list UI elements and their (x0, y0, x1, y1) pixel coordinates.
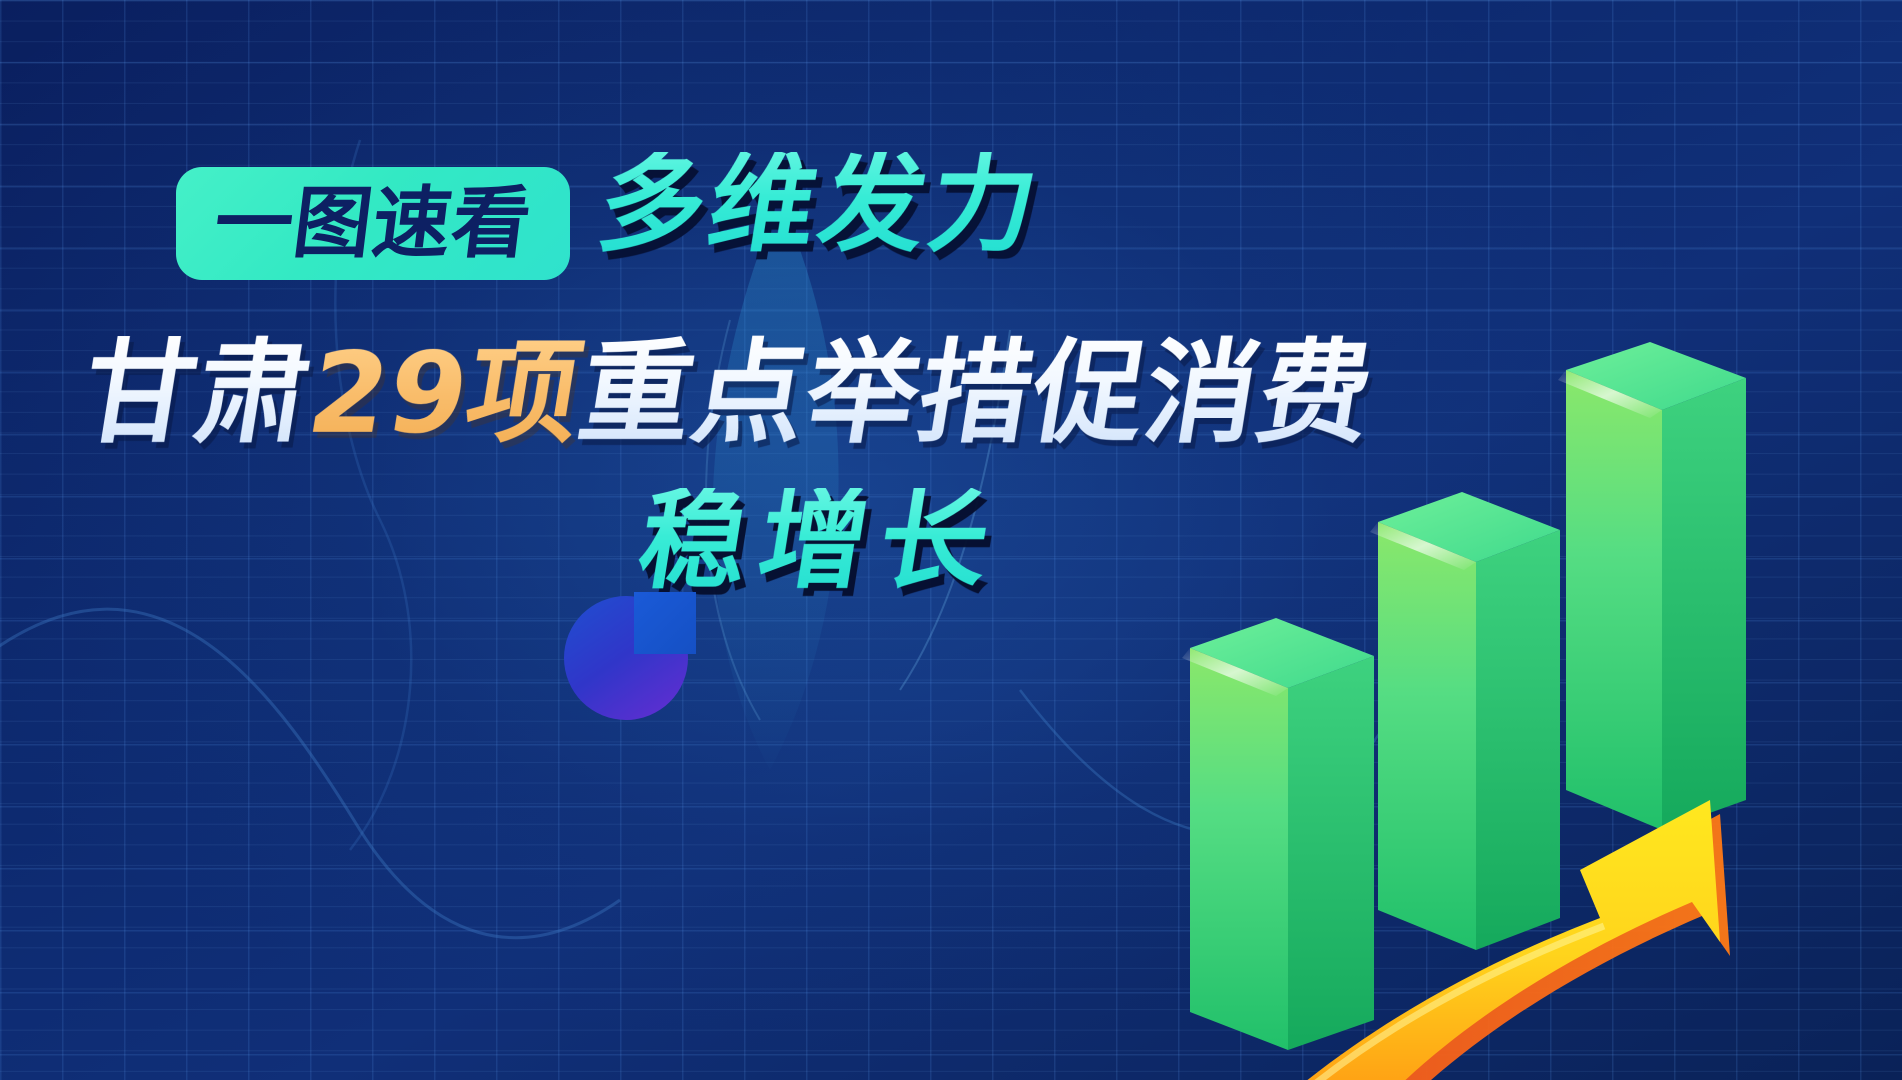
bar-3 (1558, 342, 1746, 830)
poster-canvas: 一图速看 多维发力 甘肃29项重点举措促消费 稳增长 (0, 0, 1902, 1080)
bar-1 (1182, 618, 1374, 1050)
sine-wave-line (0, 609, 620, 937)
headline-line-2-part1: 甘肃 (74, 329, 321, 459)
bar-chart-3d (1180, 330, 1902, 1080)
bar-2 (1370, 492, 1560, 950)
pie-chart-icon (556, 578, 706, 728)
pie-slice-exploded (634, 592, 696, 654)
badge-yitusukan: 一图速看 (176, 167, 570, 280)
badge-label: 一图速看 (210, 185, 536, 263)
headline-line-1: 多维发力 (592, 152, 1049, 258)
headline-line-2-number: 29项 (300, 329, 591, 459)
